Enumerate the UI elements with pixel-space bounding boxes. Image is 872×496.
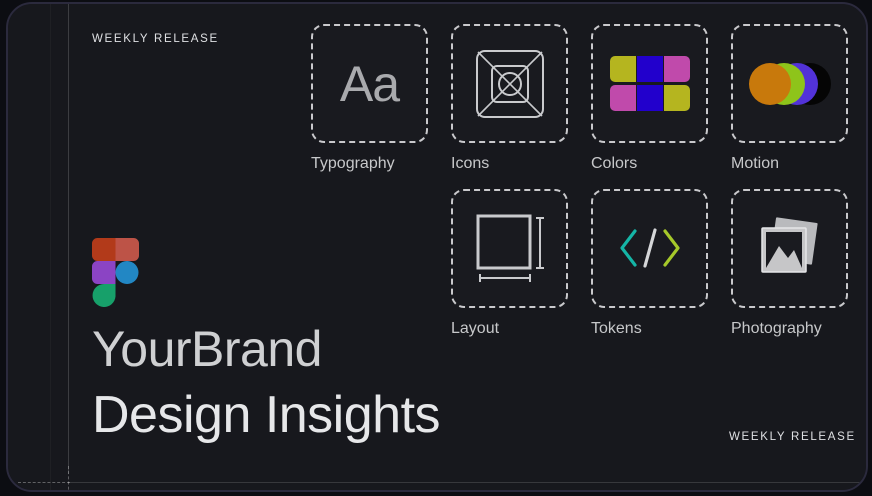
asset-card-grid: Aa Typography Icon	[311, 24, 866, 353]
color-swatch	[610, 56, 636, 82]
card-icons[interactable]	[451, 24, 568, 143]
asset-card-row-2: Layout Tokens	[451, 189, 866, 340]
guide-line-vertical-dashed	[68, 466, 69, 490]
card-tokens[interactable]	[591, 189, 708, 308]
asset-cell-typography: Aa Typography	[311, 24, 428, 175]
card-label-photography: Photography	[731, 318, 866, 340]
guide-line-vertical	[68, 4, 69, 474]
poster-inner-surface: WEEKLY RELEASE WEEKLY RELEASE Aa Typogra…	[8, 4, 866, 490]
card-label-motion: Motion	[731, 153, 789, 175]
eyebrow-label-top: WEEKLY RELEASE	[92, 33, 219, 45]
color-swatch	[664, 56, 690, 82]
card-photography[interactable]	[731, 189, 848, 308]
color-swatch	[637, 56, 663, 82]
asset-cell-colors: Colors	[591, 24, 708, 175]
card-label-tokens: Tokens	[591, 318, 649, 340]
card-label-colors: Colors	[591, 153, 649, 175]
overlapping-circles-icon	[749, 63, 831, 105]
nested-square-x-icon	[473, 47, 547, 121]
square-dimensions-icon	[472, 210, 548, 286]
asset-cell-motion: Motion	[731, 24, 848, 175]
asset-cell-photography: Photography	[731, 189, 848, 340]
card-colors[interactable]	[591, 24, 708, 143]
aa-glyph-icon: Aa	[340, 59, 399, 109]
asset-cell-tokens: Tokens	[591, 189, 708, 340]
guide-line-horizontal-dashed	[18, 482, 70, 483]
card-typography[interactable]: Aa	[311, 24, 428, 143]
card-layout[interactable]	[451, 189, 568, 308]
card-motion[interactable]	[731, 24, 848, 143]
color-swatch	[610, 85, 636, 111]
color-swatch	[637, 85, 663, 111]
poster-canvas: WEEKLY RELEASE WEEKLY RELEASE Aa Typogra…	[0, 0, 872, 496]
asset-cell-icons: Icons	[451, 24, 568, 175]
color-swatches-icon	[610, 56, 690, 111]
guide-line-faint-vertical	[50, 4, 51, 490]
figma-logo-icon	[92, 238, 139, 308]
asset-card-row-1: Aa Typography Icon	[311, 24, 866, 175]
guide-line-horizontal	[68, 482, 866, 483]
brand-headline-line-2: Design Insights	[92, 389, 440, 441]
code-brackets-icon	[617, 225, 683, 271]
card-label-icons: Icons	[451, 153, 509, 175]
motion-circle	[749, 63, 791, 105]
color-swatch	[664, 85, 690, 111]
card-label-typography: Typography	[311, 153, 451, 175]
eyebrow-label-bottom: WEEKLY RELEASE	[729, 431, 856, 443]
photo-stack-icon	[755, 216, 825, 280]
asset-cell-layout: Layout	[451, 189, 568, 340]
card-label-layout: Layout	[451, 318, 509, 340]
brand-name-line-1: YourBrand	[92, 324, 322, 374]
